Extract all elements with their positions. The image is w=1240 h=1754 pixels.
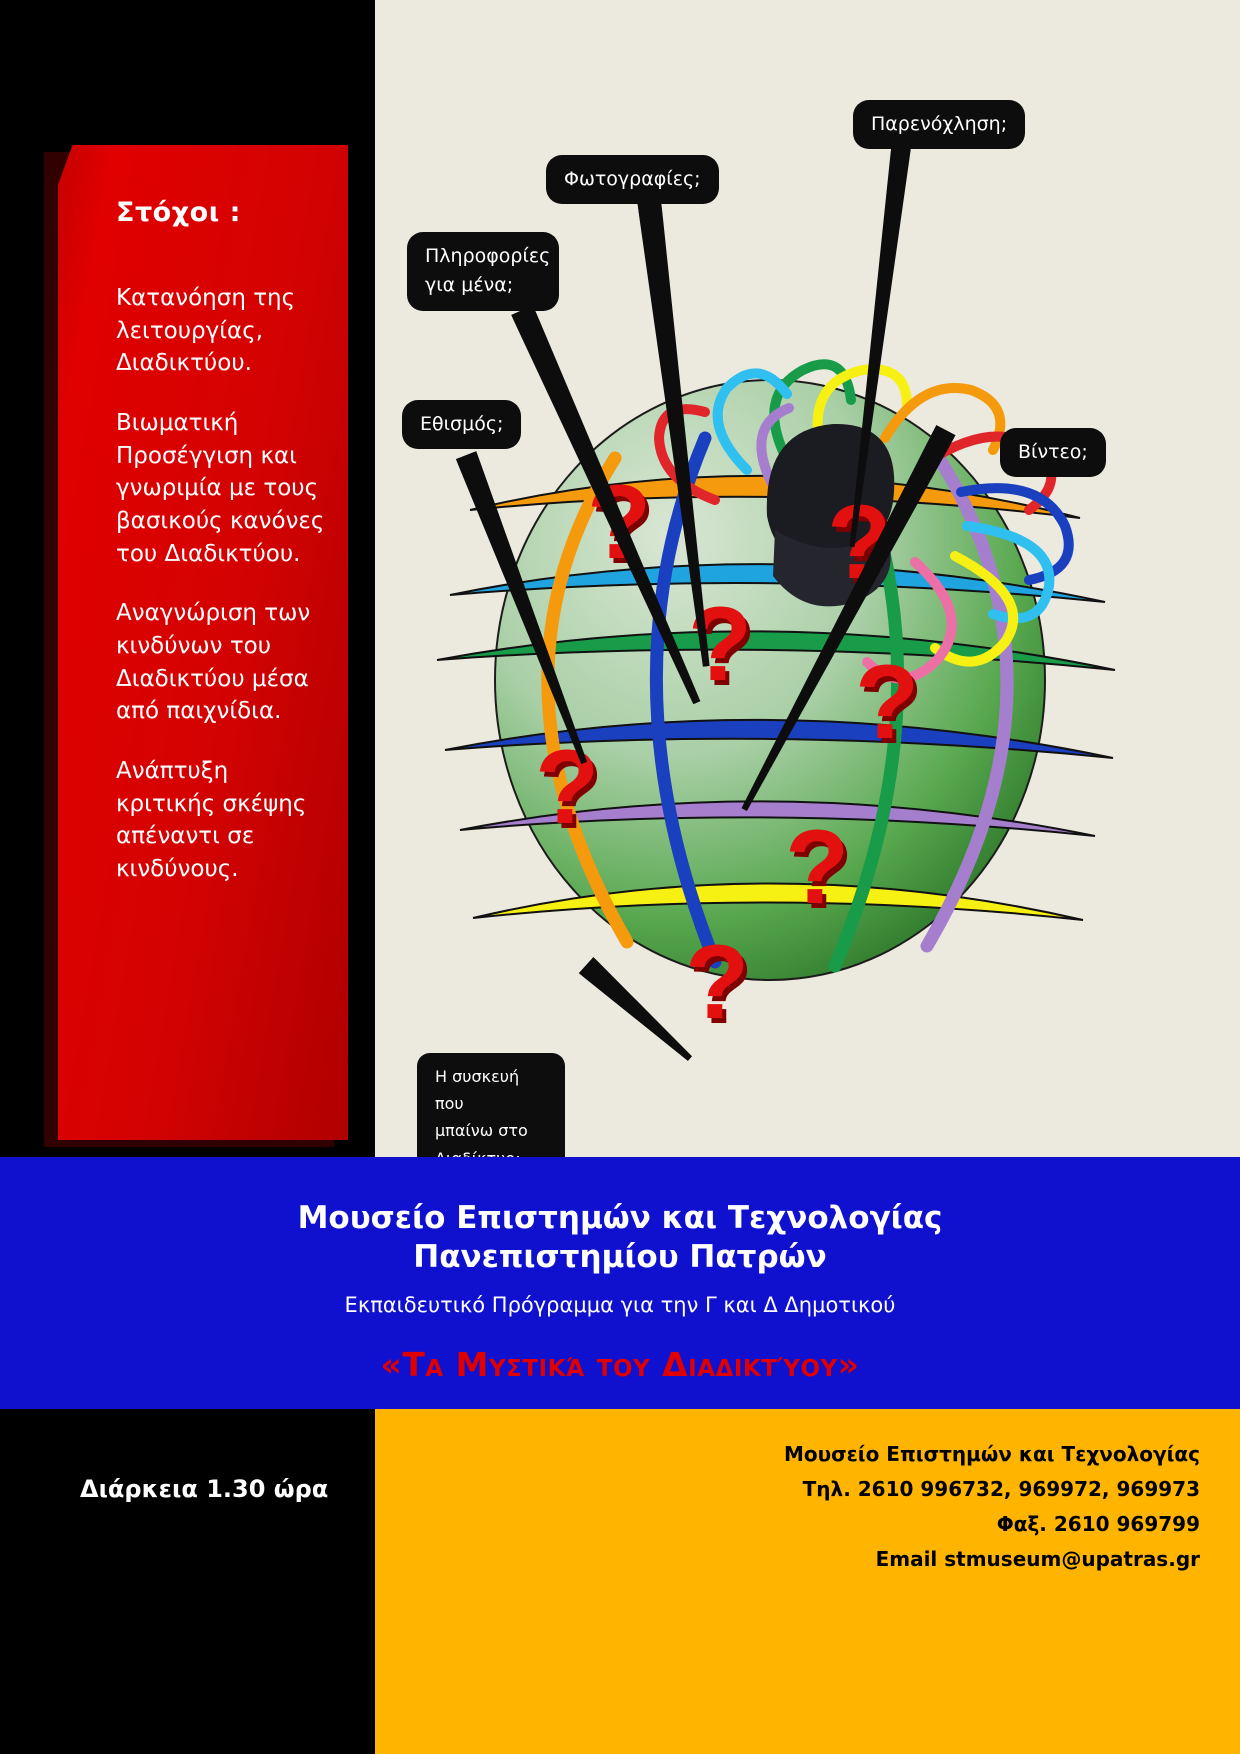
objective-item-3: Αναγνώριση των κινδύνων του Διαδικτύου μ… xyxy=(116,597,326,728)
museum-name-line2: Πανεπιστημίου Πατρών xyxy=(0,1238,1240,1277)
objectives-panel: Στόχοι : Κατανόηση της λειτουργίας, Διαδ… xyxy=(58,145,348,1140)
objective-item-2: Βιωματική Προσέγγιση και γνωριμία με του… xyxy=(116,407,326,570)
objective-item-4: Ανάπτυξη κριτικής σκέψης απέναντι σε κιν… xyxy=(116,755,326,886)
question-mark-6: ? xyxy=(855,650,919,755)
bubble-parenochlisi[interactable]: Παρενόχληση; xyxy=(853,100,1025,149)
bubble-fotografies[interactable]: Φωτογραφίες; xyxy=(546,155,719,204)
question-mark-3: ? xyxy=(535,735,599,840)
bubble-vinteo[interactable]: Βίντεο; xyxy=(1000,428,1106,477)
bubble-ethismos[interactable]: Εθισμός; xyxy=(402,400,521,449)
objective-item-1: Κατανόηση της λειτουργίας, Διαδικτύου. xyxy=(116,282,326,380)
question-mark-7: ? xyxy=(785,815,849,920)
poster-root: ? ? ? ? ? ? ? Παρενόχληση; Φωτογραφίες; … xyxy=(0,0,1240,1754)
duration-label: Διάρκεια 1.30 ώρα xyxy=(80,1475,328,1503)
museum-name-line1: Μουσείο Επιστημών και Τεχνολογίας xyxy=(0,1199,1240,1238)
museum-banner: Μουσείο Επιστημών και Τεχνολογίας Πανεπι… xyxy=(0,1157,1240,1409)
contact-email[interactable]: Email stmuseum@upatras.gr xyxy=(375,1542,1200,1577)
program-title: «Τα Μυστικά του Διαδικτύου» xyxy=(0,1345,1240,1384)
artwork-panel: ? ? ? ? ? ? ? Παρενόχληση; Φωτογραφίες; … xyxy=(375,0,1240,1157)
contact-fax: Φαξ. 2610 969799 xyxy=(375,1507,1200,1542)
bubble-plirofories[interactable]: Πληροφορίες για μένα; xyxy=(407,232,559,311)
question-mark-4: ? xyxy=(685,930,749,1035)
objectives-title: Στόχοι : xyxy=(116,197,326,228)
bubble-syskevi[interactable]: Η συσκευή που μπαίνω στο Διαδίκτυο; xyxy=(417,1053,565,1157)
contact-org: Μουσείο Επιστημών και Τεχνολογίας xyxy=(375,1437,1200,1472)
program-subtitle: Εκπαιδευτικό Πρόγραμμα για την Γ και Δ Δ… xyxy=(0,1293,1240,1317)
contact-phone: Τηλ. 2610 996732, 969972, 969973 xyxy=(375,1472,1200,1507)
contact-box: Μουσείο Επιστημών και Τεχνολογίας Τηλ. 2… xyxy=(375,1409,1240,1754)
